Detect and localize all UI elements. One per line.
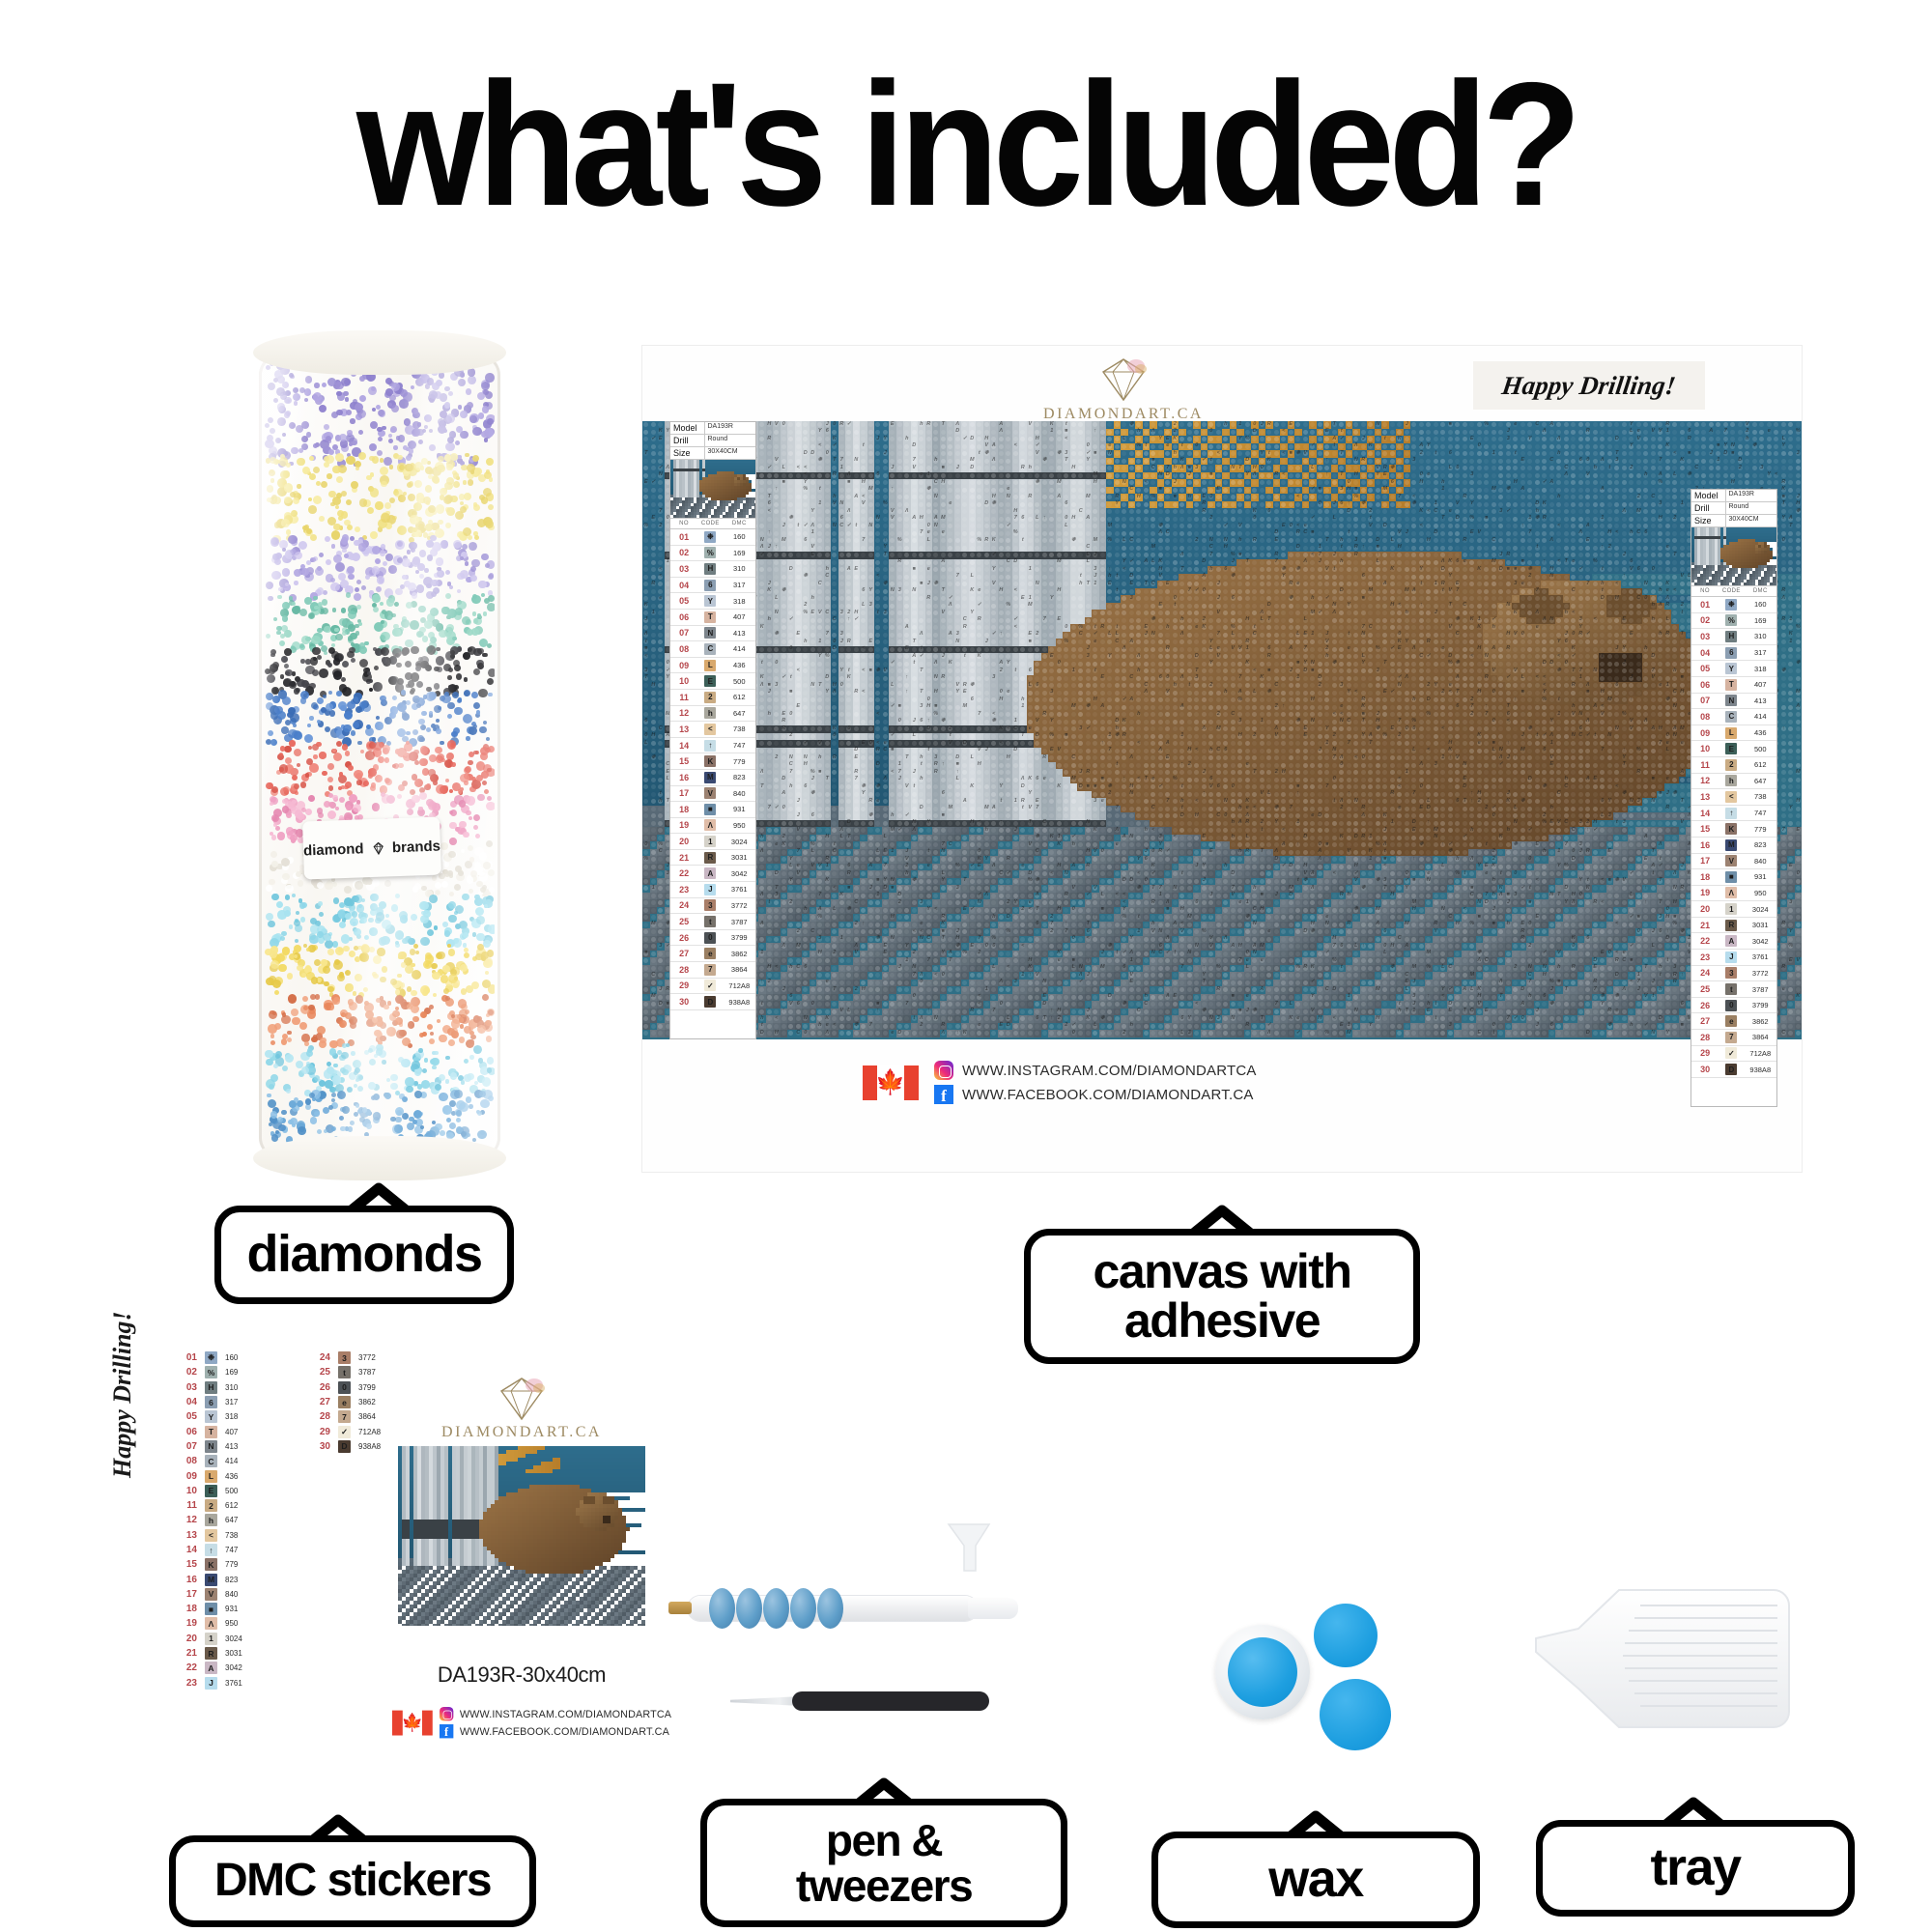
legend-cell-code: E: [1719, 743, 1744, 754]
bag-seal-top: [253, 330, 506, 375]
legend-cell-dmc: 407: [1745, 680, 1776, 689]
sticker-code: A: [205, 1662, 217, 1674]
sticker-code: D: [338, 1440, 351, 1453]
sticker-dmc: 413: [225, 1442, 238, 1451]
legend-cell-code: 7: [697, 964, 723, 976]
legend-cell-code: %: [1719, 614, 1744, 626]
diamonds-bag: diamond brands: [259, 346, 500, 1167]
legend-row: 21R3031: [1691, 918, 1776, 934]
legend-row: 112612: [1691, 757, 1776, 774]
pen-metal-tip: [668, 1602, 692, 1614]
legend-row: 30D938A8: [1691, 1062, 1776, 1078]
legend-header-code: CODE: [697, 519, 723, 528]
legend-cell-code: %: [697, 547, 723, 558]
sticker-no: 21: [176, 1648, 197, 1659]
legend-cell-code: J: [697, 884, 723, 895]
legend-meta-value: DA193R: [1726, 490, 1777, 501]
bead-band: [265, 740, 495, 798]
legend-cell-code: t: [697, 916, 723, 927]
legend-row: 09L436: [1691, 725, 1776, 742]
sticker-no: 04: [176, 1397, 197, 1407]
legend-row: 23J3761: [670, 882, 755, 898]
sticker-code: 2: [205, 1499, 217, 1512]
sticker-no: 27: [309, 1397, 330, 1407]
card-preview-image: [398, 1446, 645, 1626]
legend-cell-no: 07: [670, 628, 697, 638]
legend-meta-key: Size: [1691, 515, 1726, 526]
legend-cell-dmc: 436: [724, 661, 755, 669]
legend-cell-no: 21: [670, 853, 697, 863]
legend-cell-code: M: [1719, 839, 1744, 851]
legend-cell-no: 12: [1691, 776, 1719, 785]
legend-cell-no: 16: [1691, 840, 1719, 850]
legend-header-row: NOCODEDMC: [1691, 586, 1776, 597]
legend-cell-dmc: 317: [724, 581, 755, 589]
legend-row: 27e3862: [1691, 1013, 1776, 1030]
legend-cell-dmc: 647: [724, 709, 755, 718]
pen-and-tweezers: [667, 1536, 1034, 1777]
legend-cell-code: 6: [697, 580, 723, 591]
sticker-code: N: [205, 1440, 217, 1453]
legend-row: 22A3042: [670, 866, 755, 882]
legend-row: 2433772: [1691, 966, 1776, 982]
legend-row: 06T407: [670, 610, 755, 626]
legend-cell-code: R: [1719, 920, 1744, 931]
sticker-row: 2603799: [309, 1380, 381, 1395]
legend-row: 15K779: [670, 753, 755, 770]
legend-cell-no: 05: [1691, 664, 1719, 673]
sticker-no: 05: [176, 1411, 197, 1422]
legend-meta-row: ModelDA193R: [670, 422, 755, 435]
legend-meta-value: 30X40CM: [705, 447, 756, 459]
sticker-code: 6: [205, 1396, 217, 1408]
legend-header-code: CODE: [1719, 586, 1744, 596]
facebook-row[interactable]: f WWW.FACEBOOK.COM/DIAMONDART.CA: [934, 1085, 1257, 1104]
legend-cell-code: 2: [1719, 759, 1744, 771]
legend-cell-dmc: 414: [724, 644, 755, 653]
wax-disc: [1314, 1604, 1378, 1667]
label-canvas-line2: adhesive: [1124, 1296, 1320, 1346]
happy-drilling-stamp: Happy Drilling!: [1473, 361, 1705, 410]
legend-cell-code: t: [1719, 983, 1744, 995]
legend-cell-dmc: 436: [1745, 728, 1776, 737]
sticker-no: 30: [309, 1441, 330, 1452]
legend-row: 27e3862: [670, 946, 755, 962]
canada-flag-icon: 🍁: [392, 1710, 433, 1735]
sticker-dmc: 500: [225, 1487, 238, 1495]
legend-cell-dmc: 3772: [724, 901, 755, 910]
label-pen-line2: tweezers: [796, 1863, 972, 1909]
legend-cell-code: Y: [697, 595, 723, 607]
tweezers: [730, 1690, 989, 1712]
legend-row: 16M823: [1691, 838, 1776, 854]
legend-cell-no: 10: [1691, 744, 1719, 753]
pen-funnel-cap: [943, 1520, 995, 1575]
legend-meta-value: 30X40CM: [1726, 515, 1777, 526]
legend-cell-dmc: 500: [724, 677, 755, 686]
bag-plastic: [259, 346, 500, 1167]
label-dmc-stickers: DMC stickers: [169, 1835, 536, 1927]
legend-cell-code: 3: [697, 899, 723, 911]
legend-cell-dmc: 318: [724, 597, 755, 606]
legend-row: 05Y318: [1691, 661, 1776, 677]
sticker-code: %: [205, 1366, 217, 1378]
label-dmc-stickers-text: DMC stickers: [214, 1858, 491, 1905]
legend-cell-no: 08: [670, 644, 697, 654]
legend-cell-dmc: 747: [1745, 809, 1776, 817]
sticker-no: 20: [176, 1634, 197, 1644]
legend-thumbnail: [670, 460, 755, 519]
legend-cell-no: 29: [1691, 1048, 1719, 1058]
legend-cell-no: 04: [670, 581, 697, 590]
sticker-no: 24: [309, 1352, 330, 1363]
legend-cell-code: 2: [697, 692, 723, 703]
legend-cell-code: C: [1719, 711, 1744, 723]
legend-cell-dmc: 3761: [1745, 952, 1776, 961]
legend-cell-no: 14: [670, 741, 697, 751]
bead-band: [265, 943, 495, 999]
legend-cell-no: 08: [1691, 712, 1719, 722]
drill-tray: [1534, 1584, 1797, 1777]
sticker-row: 27e3862: [309, 1395, 381, 1409]
legend-cell-dmc: 612: [1745, 760, 1776, 769]
legend-cell-no: 17: [1691, 856, 1719, 866]
label-diamonds: diamonds: [214, 1206, 514, 1304]
sticker-code: C: [205, 1455, 217, 1467]
sticker-dmc: 3772: [358, 1353, 376, 1362]
legend-cell-no: 04: [1691, 648, 1719, 658]
legend-row: 02%169: [670, 546, 755, 562]
legend-row: 18■931: [1691, 869, 1776, 886]
legend-cell-dmc: 3042: [1745, 937, 1776, 946]
legend-row: 19Λ950: [1691, 886, 1776, 902]
card-footer: 🍁 WWW.INSTAGRAM.COM/DIAMONDARTCA f WWW.F…: [392, 1707, 671, 1738]
facebook-icon: f: [440, 1724, 453, 1738]
page-title: what's included?: [68, 56, 1864, 232]
legend-cell-no: 19: [670, 820, 697, 830]
sticker-row: 2013024: [176, 1632, 242, 1646]
legend-cell-code: ✓: [697, 980, 723, 991]
card-brand-name: DIAMONDART.CA: [441, 1424, 602, 1441]
sticker-no: 15: [176, 1559, 197, 1570]
label-pen-and-tweezers: pen & tweezers: [700, 1799, 1067, 1927]
legend-cell-code: ↑: [697, 740, 723, 752]
sticker-row: 22A3042: [176, 1661, 242, 1675]
legend-cell-no: 11: [1691, 760, 1719, 770]
legend-thumbnail: [1691, 527, 1776, 586]
legend-row: 23J3761: [1691, 950, 1776, 966]
sticker-no: 17: [176, 1589, 197, 1600]
legend-meta-row: DrillRound: [1691, 502, 1776, 515]
sticker-code: h: [205, 1514, 217, 1526]
sticker-no: 18: [176, 1604, 197, 1614]
legend-cell-code: 0: [697, 932, 723, 944]
facebook-url: WWW.FACEBOOK.COM/DIAMONDART.CA: [962, 1087, 1254, 1103]
label-wax-text: wax: [1268, 1853, 1363, 1906]
legend-cell-no: 21: [1691, 921, 1719, 930]
legend-cell-no: 03: [1691, 632, 1719, 641]
legend-cell-dmc: 747: [724, 741, 755, 750]
bag-label-left-text: diamond: [303, 840, 364, 859]
legend-cell-no: 12: [670, 708, 697, 718]
canada-flag-icon: 🍁: [863, 1065, 919, 1100]
legend-row: 03H310: [670, 561, 755, 578]
legend-row: 08C414: [670, 641, 755, 658]
legend-row: 2603799: [1691, 998, 1776, 1014]
legend-cell-dmc: 840: [1745, 857, 1776, 866]
legend-cell-dmc: 3864: [1745, 1033, 1776, 1041]
legend-row: 25t3787: [670, 914, 755, 930]
legend-cell-code: h: [1719, 775, 1744, 786]
legend-cell-code: 1: [697, 836, 723, 847]
legend-cell-dmc: 823: [724, 773, 755, 781]
legend-row: 16M823: [670, 770, 755, 786]
legend-cell-dmc: 3031: [724, 853, 755, 862]
legend-cell-no: 27: [670, 949, 697, 958]
legend-cell-no: 13: [670, 724, 697, 734]
legend-cell-dmc: 938A8: [724, 998, 755, 1007]
legend-cell-code: <: [697, 724, 723, 735]
sticker-no: 02: [176, 1367, 197, 1378]
legend-cell-no: 20: [1691, 904, 1719, 914]
wax-disc: [1320, 1679, 1391, 1750]
legend-cell-no: 09: [670, 661, 697, 670]
bead-band: [265, 1043, 495, 1096]
legend-row: 30D938A8: [670, 994, 755, 1010]
legend-cell-code: D: [1719, 1064, 1744, 1075]
sticker-dmc: 931: [225, 1605, 238, 1613]
sticker-happy-drilling-text: Happy Drilling!: [108, 1236, 137, 1478]
legend-row: 03H310: [1691, 629, 1776, 645]
legend-cell-code: e: [697, 948, 723, 959]
sticker-dmc: 647: [225, 1516, 238, 1524]
legend-cell-dmc: 169: [1745, 616, 1776, 625]
legend-cell-code: L: [697, 660, 723, 671]
legend-cell-code: A: [697, 867, 723, 879]
sticker-row: 01❉160: [176, 1350, 242, 1365]
legend-cell-dmc: 3787: [724, 918, 755, 926]
sticker-row: 08C414: [176, 1454, 242, 1468]
label-diamonds-text: diamonds: [246, 1228, 481, 1281]
legend-cell-no: 02: [1691, 615, 1719, 625]
sticker-no: 12: [176, 1515, 197, 1525]
pen-grip-ring: [817, 1588, 843, 1629]
maple-leaf-icon: 🍁: [875, 1070, 905, 1094]
legend-cell-no: 07: [1691, 696, 1719, 705]
legend-meta-row: DrillRound: [670, 435, 755, 447]
sticker-dmc: 823: [225, 1576, 238, 1584]
card-brand-logo: DIAMONDART.CA: [444, 1377, 599, 1441]
facebook-row[interactable]: f WWW.FACEBOOK.COM/DIAMONDART.CA: [440, 1724, 671, 1738]
legend-cell-dmc: 160: [1745, 600, 1776, 609]
legend-cell-dmc: 3787: [1745, 985, 1776, 994]
legend-cell-no: 15: [670, 756, 697, 766]
pen-grip-ring: [763, 1588, 789, 1629]
instagram-row[interactable]: WWW.INSTAGRAM.COM/DIAMONDARTCA: [440, 1707, 671, 1720]
legend-cell-code: D: [697, 996, 723, 1008]
legend-cell-no: 26: [670, 933, 697, 943]
sticker-row: 30D938A8: [309, 1439, 381, 1454]
legend-cell-code: ■: [697, 804, 723, 815]
legend-cell-code: E: [697, 675, 723, 687]
legend-table-right: ModelDA193RDrillRoundSize30X40CMNOCODEDM…: [1690, 489, 1777, 1107]
legend-row: 18■931: [670, 802, 755, 818]
sticker-dmc: 612: [225, 1501, 238, 1510]
legend-row: 17V840: [1691, 854, 1776, 870]
sticker-row: 13<738: [176, 1528, 242, 1543]
label-canvas-with-adhesive: canvas with adhesive: [1024, 1229, 1420, 1364]
instagram-row[interactable]: WWW.INSTAGRAM.COM/DIAMONDARTCA: [934, 1061, 1257, 1080]
sticker-dmc: 3031: [225, 1649, 242, 1658]
pen-grip-ring: [790, 1588, 816, 1629]
legend-row: 2433772: [670, 898, 755, 915]
legend-cell-code: e: [1719, 1015, 1744, 1027]
sticker-code: R: [205, 1647, 217, 1660]
legend-row: 10E500: [1691, 741, 1776, 757]
sticker-dmc: 3862: [358, 1398, 376, 1406]
legend-row: 02%169: [1691, 613, 1776, 630]
sticker-dmc: 3024: [225, 1634, 242, 1643]
legend-header-dmc: DMC: [1745, 586, 1776, 596]
sticker-code: J: [205, 1677, 217, 1690]
legend-row: 2603799: [670, 930, 755, 947]
legend-header-row: NOCODEDMC: [670, 519, 755, 529]
legend-cell-dmc: 612: [724, 693, 755, 701]
sticker-row: 2873864: [309, 1409, 381, 1424]
legend-row: 14↑747: [1691, 806, 1776, 822]
bag-label-right-text: brands: [392, 838, 441, 856]
instagram-url: WWW.INSTAGRAM.COM/DIAMONDARTCA: [962, 1063, 1257, 1079]
legend-row: 13<738: [670, 722, 755, 738]
sticker-dmc: 3787: [358, 1368, 376, 1377]
sticker-code: t: [338, 1366, 351, 1378]
legend-cell-dmc: 3864: [724, 965, 755, 974]
sticker-no: 25: [309, 1367, 330, 1378]
legend-cell-dmc: 950: [1745, 889, 1776, 897]
sticker-dmc: 310: [225, 1383, 238, 1392]
legend-row: 2873864: [670, 962, 755, 979]
legend-cell-no: 28: [1691, 1033, 1719, 1042]
legend-row: 112612: [670, 690, 755, 706]
legend-cell-dmc: 3031: [1745, 921, 1776, 929]
instagram-icon: [440, 1707, 453, 1720]
legend-cell-no: 15: [1691, 824, 1719, 834]
legend-meta-key: Drill: [1691, 502, 1726, 514]
pen-grip-ring: [709, 1588, 735, 1629]
label-canvas-line1: canvas with: [1094, 1247, 1351, 1296]
sticker-code: Y: [205, 1410, 217, 1423]
legend-cell-dmc: 3761: [724, 885, 755, 894]
legend-cell-no: 25: [1691, 984, 1719, 994]
diamond-logo-icon: [1094, 357, 1153, 402]
instagram-url: WWW.INSTAGRAM.COM/DIAMONDARTCA: [460, 1708, 671, 1719]
legend-cell-code: 3: [1719, 967, 1744, 979]
sticker-code: 1: [205, 1633, 217, 1645]
sticker-code: 7: [338, 1410, 351, 1423]
sticker-code: H: [205, 1381, 217, 1394]
legend-row: 05Y318: [670, 593, 755, 610]
legend-cell-code: ❉: [697, 531, 723, 543]
sticker-row: 2433772: [309, 1350, 381, 1365]
sticker-dmc: 160: [225, 1353, 238, 1362]
sticker-code: ✓: [338, 1426, 351, 1438]
legend-row: 12h647: [1691, 774, 1776, 790]
canvas-social-links: WWW.INSTAGRAM.COM/DIAMONDARTCA f WWW.FAC…: [934, 1061, 1257, 1104]
legend-row: 01❉160: [1691, 597, 1776, 613]
sticker-code: V: [205, 1588, 217, 1601]
legend-cell-dmc: 3024: [1745, 905, 1776, 914]
legend-meta-row: Size30X40CM: [670, 447, 755, 460]
legend-cell-code: T: [697, 611, 723, 623]
sticker-code: Λ: [205, 1617, 217, 1630]
sticker-row: 29✓712A8: [309, 1424, 381, 1438]
legend-cell-code: ✓: [1719, 1047, 1744, 1059]
facebook-icon: f: [934, 1085, 953, 1104]
legend-cell-code: 6: [1719, 647, 1744, 659]
legend-row: 17V840: [670, 786, 755, 803]
legend-cell-code: Y: [1719, 663, 1744, 674]
legend-row: 046317: [670, 578, 755, 594]
legend-cell-code: ↑: [1719, 808, 1744, 819]
legend-row: 15K779: [1691, 821, 1776, 838]
sticker-no: 01: [176, 1352, 197, 1363]
legend-cell-no: 18: [670, 805, 697, 814]
legend-cell-dmc: 950: [724, 821, 755, 830]
legend-cell-no: 18: [1691, 872, 1719, 882]
sticker-row: 12h647: [176, 1513, 242, 1527]
legend-row: 29✓712A8: [670, 979, 755, 995]
maple-leaf-icon: 🍁: [402, 1714, 423, 1731]
legend-cell-dmc: 647: [1745, 777, 1776, 785]
legend-cell-no: 29: [670, 980, 697, 990]
legend-cell-dmc: 310: [724, 564, 755, 573]
sticker-no: 29: [309, 1427, 330, 1437]
sticker-dmc: 407: [225, 1428, 238, 1436]
sticker-dmc: 414: [225, 1457, 238, 1465]
canvas-brand-logo: DIAMONDART.CA: [1046, 357, 1201, 423]
legend-header-no: NO: [670, 519, 697, 528]
sticker-row: 19Λ950: [176, 1616, 242, 1631]
legend-cell-dmc: 413: [1745, 696, 1776, 705]
legend-cell-code: h: [697, 707, 723, 719]
legend-row: 06T407: [1691, 677, 1776, 694]
label-wax: wax: [1151, 1832, 1480, 1928]
legend-cell-dmc: 738: [724, 724, 755, 733]
legend-cell-code: M: [697, 772, 723, 783]
legend-row: 2873864: [1691, 1030, 1776, 1046]
legend-row: 22A3042: [1691, 933, 1776, 950]
sticker-row: 046317: [176, 1395, 242, 1409]
legend-cell-dmc: 169: [724, 549, 755, 557]
sticker-row: 112612: [176, 1498, 242, 1513]
sticker-dmc: 436: [225, 1472, 238, 1481]
label-pen-line1: pen &: [826, 1818, 942, 1863]
legend-row: 046317: [1691, 645, 1776, 662]
legend-cell-code: H: [1719, 631, 1744, 642]
legend-cell-dmc: 712A8: [724, 981, 755, 990]
legend-cell-no: 24: [1691, 968, 1719, 978]
pen-tail: [968, 1598, 1018, 1619]
product-code-label: DA193R-30x40cm: [386, 1662, 657, 1688]
legend-cell-code: K: [697, 755, 723, 767]
legend-cell-dmc: 160: [724, 532, 755, 541]
legend-cell-dmc: 414: [1745, 712, 1776, 721]
legend-row: 09L436: [670, 658, 755, 674]
legend-row: 2013024: [670, 834, 755, 850]
sticker-code: L: [205, 1470, 217, 1483]
sticker-no: 10: [176, 1486, 197, 1496]
tray-shape: [1534, 1584, 1797, 1777]
